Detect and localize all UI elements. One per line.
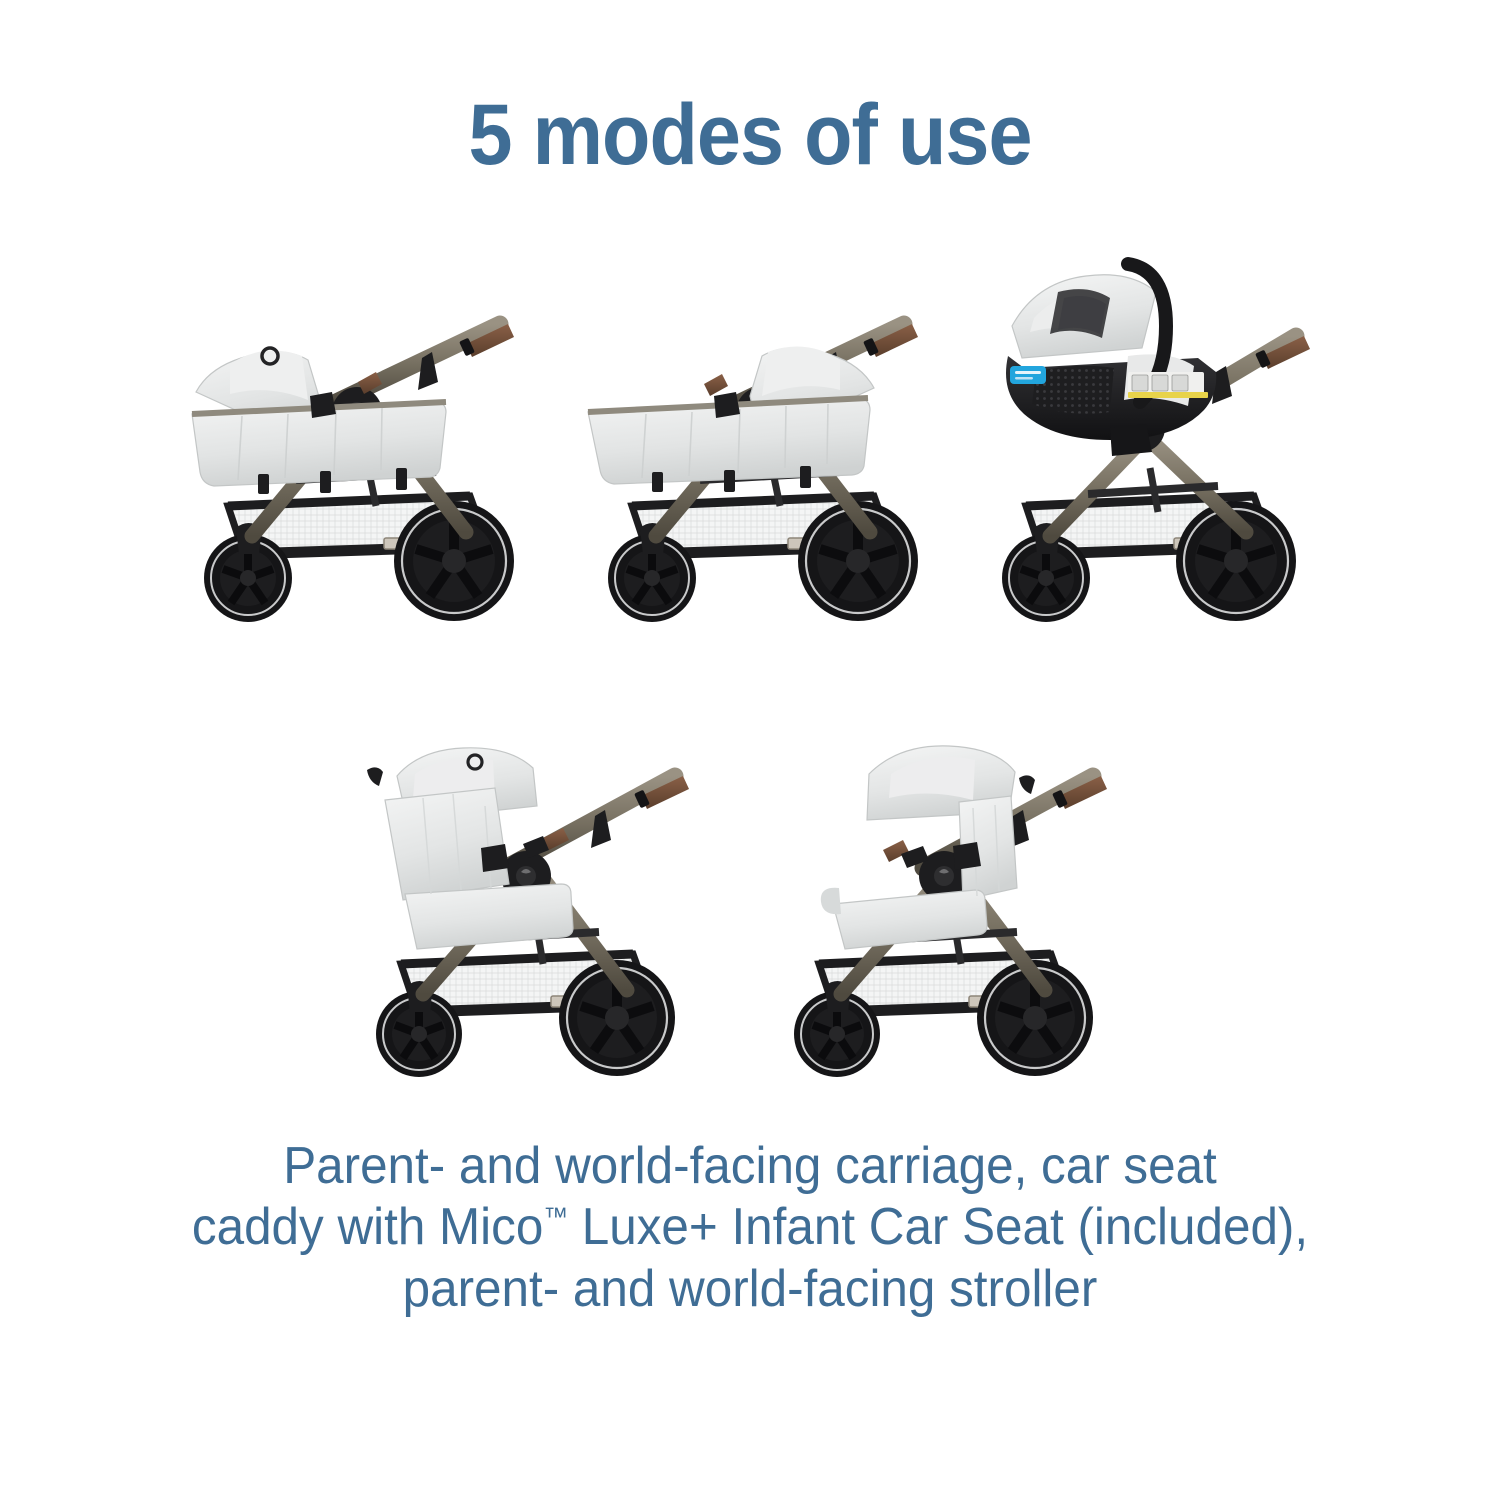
car-seat-adapter [1110, 424, 1152, 456]
mode-item-world-facing-stroller [763, 658, 1155, 1088]
caption-line-1: Parent- and world-facing carriage, car s… [114, 1136, 1387, 1197]
canopy-strap [367, 767, 383, 786]
caption-line-2-after-tm: Luxe+ Infant Car Seat (included), [568, 1198, 1308, 1256]
canopy-strap [1019, 775, 1035, 794]
caption-line-3: parent- and world-facing stroller [114, 1259, 1387, 1320]
infographic-page: 5 modes of use [0, 0, 1500, 1500]
mode-item-parent-facing-stroller [345, 658, 737, 1088]
bassinet [588, 347, 874, 492]
seat-footrest [821, 888, 841, 914]
mode-item-parent-facing-carriage [170, 206, 562, 636]
seat-clip [953, 842, 981, 870]
caption-line-2-before-tm: caddy with Mico [192, 1198, 543, 1256]
trademark-symbol: ™ [543, 1202, 568, 1232]
seat-base [405, 884, 573, 949]
car-seat-caddy-illustration [978, 206, 1330, 636]
mode-item-car-seat-caddy [978, 206, 1330, 636]
bassinet-clip [310, 392, 336, 418]
world-facing-stroller-illustration [763, 658, 1155, 1088]
caption-line-2: caddy with Mico™ Luxe+ Infant Car Seat (… [114, 1197, 1387, 1258]
modes-row-bottom [345, 658, 1155, 1088]
caption-block: Parent- and world-facing carriage, car s… [114, 1136, 1387, 1320]
world-facing-carriage-illustration [574, 206, 966, 636]
modes-row-top [170, 206, 1330, 636]
mode-item-world-facing-carriage [574, 206, 966, 636]
seat-base [833, 890, 987, 949]
car-seat-blue-label [1010, 366, 1046, 384]
page-title: 5 modes of use [468, 92, 1031, 178]
infant-car-seat [1006, 264, 1216, 456]
bassinet-clip [714, 392, 740, 418]
seat-clip [481, 844, 509, 872]
car-seat-warning-labels [1128, 372, 1208, 398]
stroller-seat [821, 746, 1035, 949]
bumper-bar-grip [704, 374, 728, 396]
parent-facing-stroller-illustration [345, 658, 737, 1088]
parent-facing-carriage-illustration [170, 206, 562, 636]
modes-gallery [80, 206, 1420, 1088]
